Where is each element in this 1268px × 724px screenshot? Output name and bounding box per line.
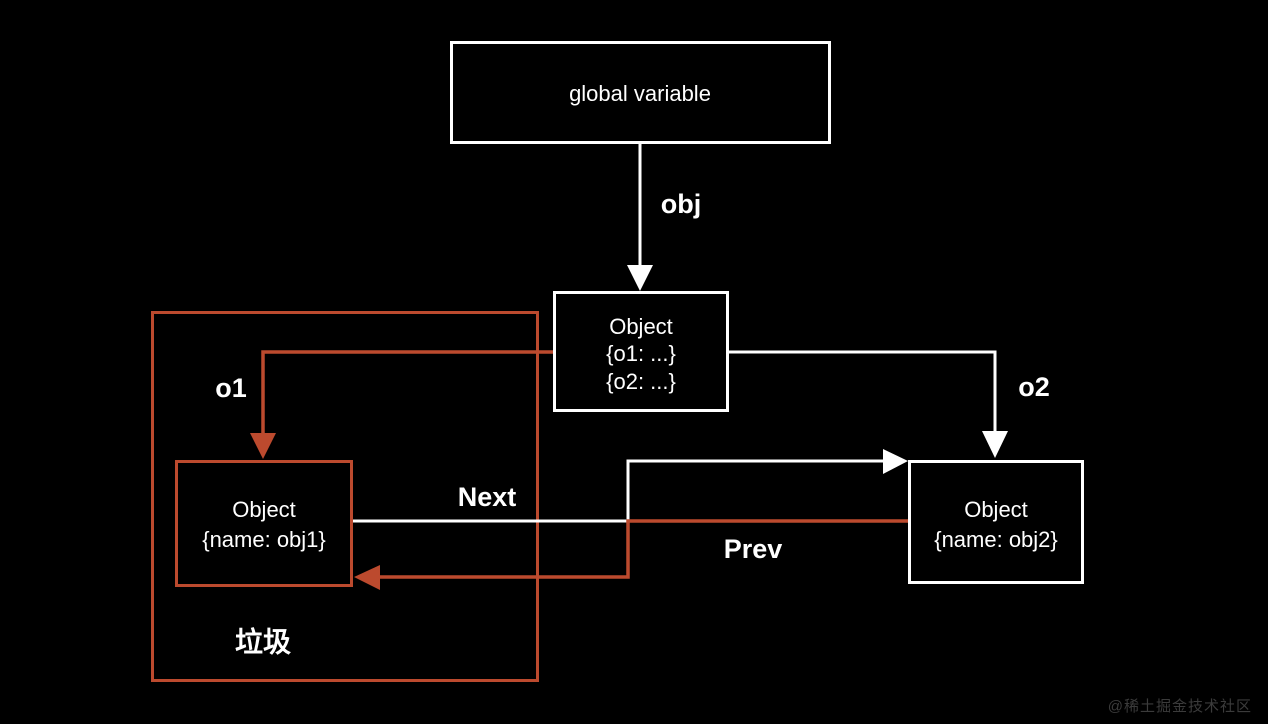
edge-o2: [728, 352, 1008, 458]
edge-label-o1: o1: [215, 373, 247, 403]
node-obj2-line1: Object: [964, 497, 1028, 522]
node-global-variable-label: global variable: [569, 81, 711, 106]
region-label-garbage: 垃圾: [235, 625, 291, 657]
edge-o1-arrowhead: [250, 433, 276, 459]
edge-obj: [627, 143, 653, 291]
node-global-variable[interactable]: global variable: [452, 43, 830, 143]
diagram-svg: global variable Object {o1: ...} {o2: ..…: [0, 0, 1268, 724]
edge-o1: [250, 352, 553, 459]
edge-next-line: [352, 461, 885, 521]
edge-label-next: Next: [458, 482, 517, 512]
diagram-canvas: global variable Object {o1: ...} {o2: ..…: [0, 0, 1268, 724]
node-root-object-line2: {o1: ...}: [606, 341, 676, 366]
edge-prev: [354, 521, 908, 590]
edge-next: [352, 449, 908, 521]
node-obj2[interactable]: Object {name: obj2}: [910, 462, 1083, 583]
edge-label-obj: obj: [661, 189, 702, 219]
edge-o2-arrowhead: [982, 431, 1008, 458]
edge-prev-arrowhead: [354, 565, 380, 590]
node-root-object-line1: Object: [609, 314, 673, 339]
node-root-object[interactable]: Object {o1: ...} {o2: ...}: [555, 293, 728, 411]
edge-label-o2: o2: [1018, 372, 1050, 402]
watermark: @稀土掘金技术社区: [1108, 695, 1252, 716]
node-obj1-line2: {name: obj1}: [202, 527, 326, 552]
node-obj1[interactable]: Object {name: obj1}: [177, 462, 352, 586]
node-obj2-line2: {name: obj2}: [934, 527, 1058, 552]
node-root-object-line3: {o2: ...}: [606, 369, 676, 394]
edge-o2-line: [728, 352, 995, 434]
edge-label-prev: Prev: [724, 534, 783, 564]
edge-next-arrowhead: [883, 449, 908, 474]
edge-prev-line: [378, 521, 908, 577]
node-obj2-box: [910, 462, 1083, 583]
node-obj1-box: [177, 462, 352, 586]
edge-obj-arrowhead: [627, 265, 653, 291]
edge-o1-line: [263, 352, 553, 437]
node-obj1-line1: Object: [232, 497, 296, 522]
